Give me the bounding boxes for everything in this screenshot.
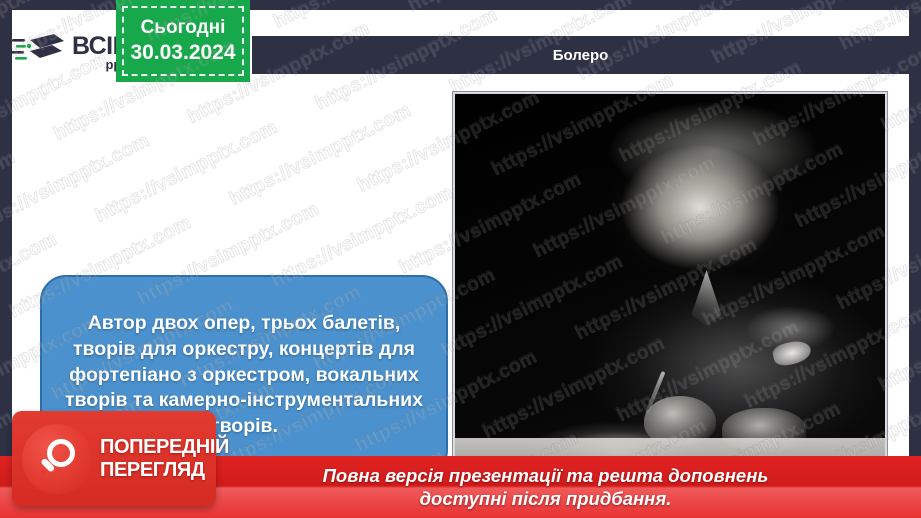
graduation-cap-icon bbox=[10, 32, 66, 72]
magnifier-icon bbox=[22, 424, 92, 494]
page-title: Болеро bbox=[553, 47, 609, 64]
preview-badge-label: ПОПЕРЕДНІЙ ПЕРЕГЛЯД bbox=[100, 437, 229, 480]
photo-collar-detail bbox=[692, 270, 722, 326]
watermark-text: https://vsimpptx.com bbox=[532, 0, 721, 2]
photo-pocket-square-detail bbox=[771, 338, 813, 369]
today-date-badge: Сьогодні 30.03.2024 bbox=[116, 0, 250, 82]
brand-logo[interactable]: ВСІМ pptx bbox=[10, 28, 133, 76]
preview-badge-line-1: ПОПЕРЕДНІЙ bbox=[100, 437, 229, 457]
date-badge-label: Сьогодні bbox=[141, 17, 226, 39]
promo-line-1: Повна версія презентації та решта доповн… bbox=[323, 465, 769, 486]
preview-badge-line-2: ПЕРЕГЛЯД bbox=[100, 460, 229, 480]
preview-watermark-badge: ПОПЕРЕДНІЙ ПЕРЕГЛЯД bbox=[12, 411, 216, 506]
date-badge-value: 30.03.2024 bbox=[130, 41, 235, 65]
portrait-image bbox=[455, 94, 885, 472]
promo-banner-text: Повна версія презентації та решта доповн… bbox=[153, 464, 769, 510]
slide-title-bar: Болеро bbox=[252, 36, 909, 74]
promo-line-2: доступні після придбання. bbox=[420, 488, 672, 509]
composer-portrait-photo bbox=[453, 92, 887, 474]
slide-root: Автор двох опер, трьох балетів, творів д… bbox=[0, 0, 921, 518]
